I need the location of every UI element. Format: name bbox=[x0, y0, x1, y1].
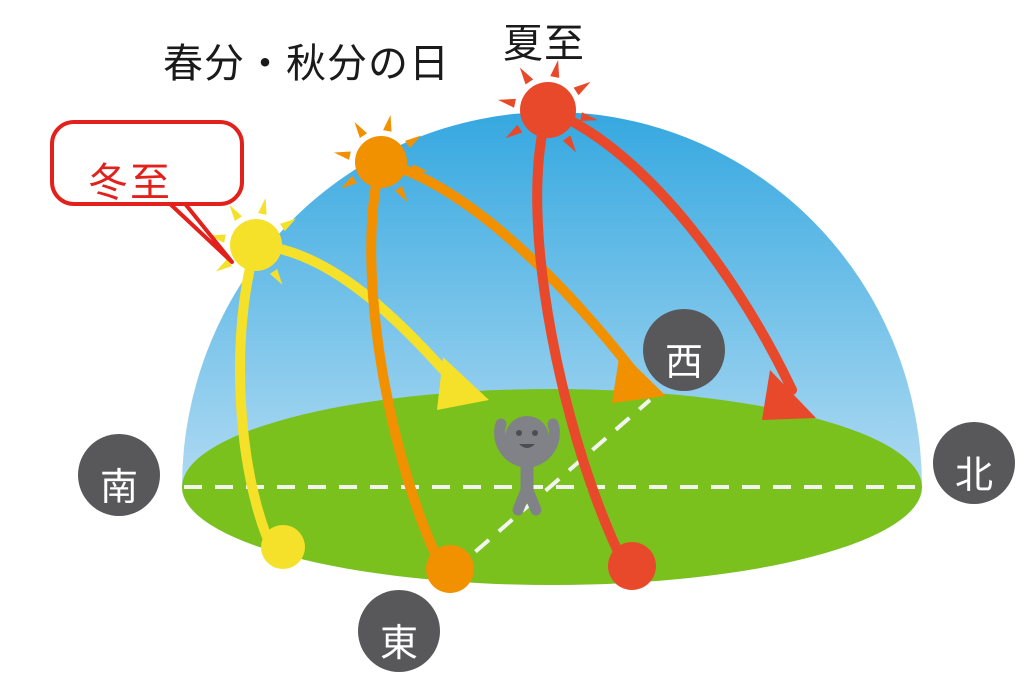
person-left-eye bbox=[516, 430, 522, 436]
equinox-path-sun-ray bbox=[354, 122, 367, 138]
solar-path-diagram: 春分・秋分の日 夏至 冬至 南 西 北 東 bbox=[0, 0, 1024, 683]
equinox-path-sunrise-dot bbox=[426, 545, 474, 593]
compass-label-east: 東 bbox=[380, 612, 419, 667]
summer-solstice-title-label: 夏至 bbox=[503, 24, 585, 64]
winter-solstice-path-sunrise-dot bbox=[261, 525, 305, 569]
summer-solstice-path-sun-ray bbox=[498, 99, 516, 108]
compass-label-west: 西 bbox=[665, 331, 704, 386]
summer-solstice-path-sun-disc bbox=[520, 82, 576, 138]
person-head bbox=[505, 416, 549, 460]
winter-solstice-path-sun-ray bbox=[258, 198, 266, 215]
winter-solstice-callout-label: 冬至 bbox=[88, 150, 172, 208]
summer-solstice-path-sun-ray bbox=[520, 67, 533, 84]
equinox-path-sun-ray bbox=[383, 115, 391, 132]
winter-solstice-path-sun-ray bbox=[229, 205, 242, 221]
equinox-path-sun-ray bbox=[334, 151, 351, 159]
callout-pointer-tail bbox=[168, 200, 232, 262]
equinox-path-sun-disc bbox=[355, 136, 407, 188]
diagram-canvas bbox=[0, 0, 1024, 683]
compass-label-north: 北 bbox=[955, 444, 994, 499]
equinox-title-label: 春分・秋分の日 bbox=[163, 44, 450, 84]
person-right-eye bbox=[532, 430, 538, 436]
summer-solstice-path-sun-ray bbox=[574, 82, 591, 95]
summer-solstice-path-sunrise-dot bbox=[608, 542, 656, 590]
compass-label-south: 南 bbox=[100, 456, 139, 511]
winter-solstice-path-sun-disc bbox=[230, 219, 282, 271]
